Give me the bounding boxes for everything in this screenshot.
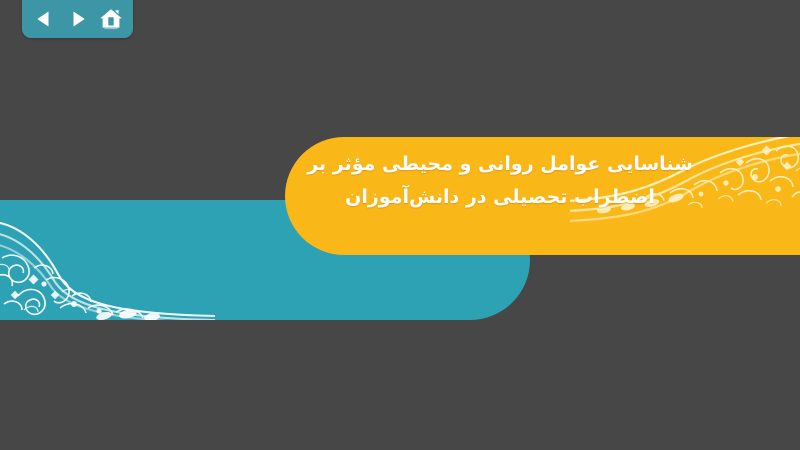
arabesque-ornament-orange <box>570 137 800 255</box>
presentation-slide: شناسایی عوامل روانی و محیطی مؤثر بر اضطر… <box>0 0 800 450</box>
slide-navigation-bar <box>22 0 133 38</box>
triangle-right-icon <box>68 9 88 29</box>
next-slide-button[interactable] <box>64 5 92 33</box>
arabesque-ornament-teal <box>0 200 215 320</box>
title-band <box>285 137 800 255</box>
previous-slide-button[interactable] <box>30 5 58 33</box>
home-icon <box>99 8 123 30</box>
home-button[interactable] <box>97 5 125 33</box>
triangle-left-icon <box>34 9 54 29</box>
